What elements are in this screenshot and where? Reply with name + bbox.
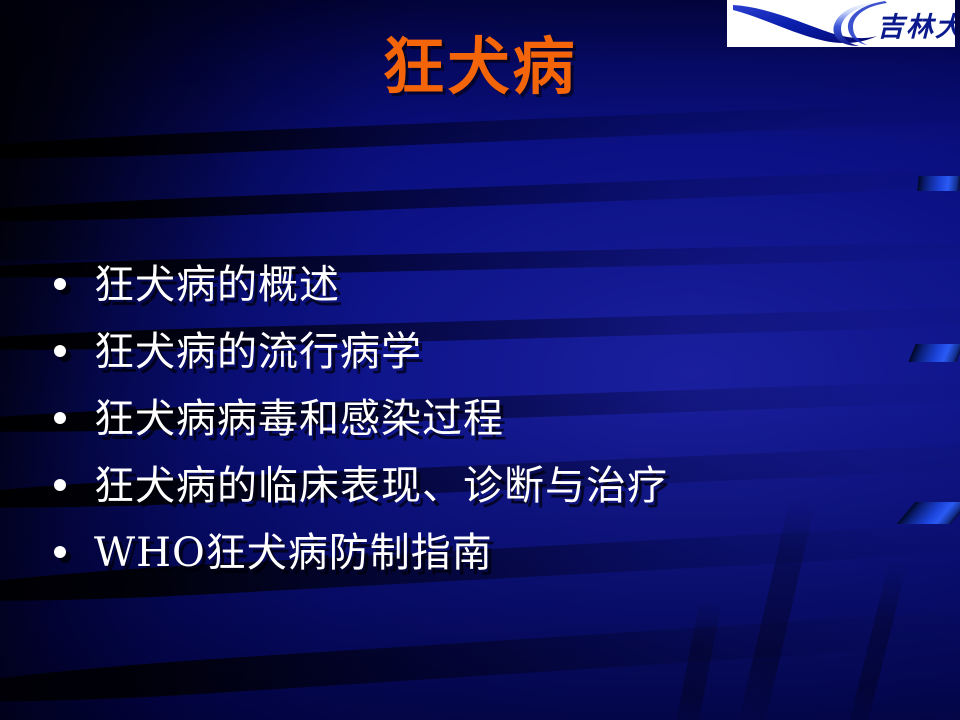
bullet-marker-icon	[46, 258, 76, 312]
bullet-marker-icon	[46, 325, 76, 379]
list-item[interactable]: 狂犬病的临床表现、诊断与治疗	[46, 459, 926, 526]
slide-title: 狂犬病	[0, 36, 960, 98]
bullet-list: 狂犬病的概述 狂犬病的流行病学 狂犬病病毒和感染过程 狂犬病的临床表现、诊断与治…	[46, 258, 926, 593]
list-item[interactable]: 狂犬病病毒和感染过程	[46, 392, 926, 459]
list-item-label: 狂犬病的概述	[76, 258, 926, 312]
list-item-label: 狂犬病病毒和感染过程	[76, 392, 926, 446]
list-item[interactable]: 狂犬病的概述	[46, 258, 926, 325]
bullet-marker-icon	[46, 526, 76, 580]
accent-bar-1	[917, 176, 960, 191]
bullet-marker-icon	[46, 459, 76, 513]
list-item[interactable]: 狂犬病的流行病学	[46, 325, 926, 392]
presentation-slide: 吉林大学 狂犬病 狂犬病的概述 狂犬病的流行病学 狂犬病病毒和感染过程 狂犬病的…	[0, 0, 960, 720]
bullet-marker-icon	[46, 392, 76, 446]
list-item-label: 狂犬病的临床表现、诊断与治疗	[76, 459, 926, 513]
list-item-label: WHO狂犬病防制指南	[76, 526, 926, 580]
list-item-label: 狂犬病的流行病学	[76, 325, 926, 379]
list-item[interactable]: WHO狂犬病防制指南	[46, 526, 926, 593]
